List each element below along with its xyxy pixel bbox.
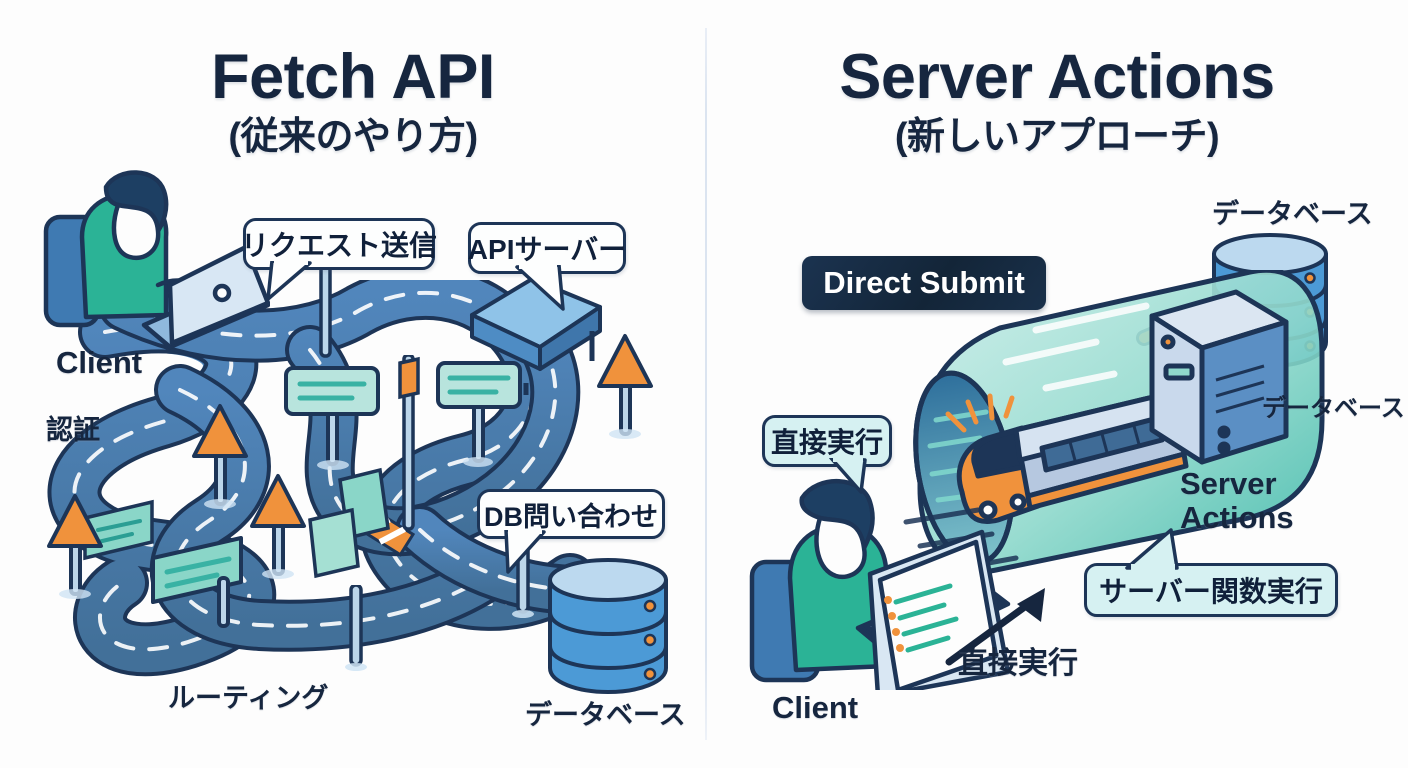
page-subtitle-right: (新しいアプローチ) bbox=[706, 115, 1408, 159]
barrier-pole-icon bbox=[398, 355, 420, 535]
request-send-bubble[interactable]: リクエスト送信 bbox=[243, 218, 435, 270]
bubble-tail-icon bbox=[1115, 526, 1185, 570]
auth-label: 認証 bbox=[46, 408, 100, 447]
database-cylinder-icon bbox=[540, 550, 680, 700]
teal-road-sign-icon bbox=[430, 355, 530, 470]
client-label-right: Client bbox=[772, 690, 858, 726]
bubble-tail-icon bbox=[264, 261, 318, 301]
server-actions-panel: Server Actions (新しいアプローチ) bbox=[706, 0, 1408, 768]
bubble-tail-icon bbox=[827, 458, 877, 496]
fetch-api-panel: Fetch API (従来のやり方) bbox=[0, 0, 706, 768]
routing-label: ルーティング bbox=[168, 676, 328, 715]
client-label: Client bbox=[56, 345, 142, 381]
server-function-bubble-label: サーバー関数実行 bbox=[1099, 570, 1323, 610]
page-subtitle-left: (従来のやり方) bbox=[0, 115, 706, 159]
database-label: データベース bbox=[525, 693, 686, 732]
direct-exec-label: 直接実行 bbox=[958, 638, 1078, 682]
person-at-laptop-icon bbox=[40, 165, 270, 355]
orange-triangle-sign-icon bbox=[45, 490, 105, 600]
bubble-tail-icon bbox=[498, 530, 552, 574]
api-server-bubble-label: APIサーバー bbox=[468, 228, 626, 268]
database-top-label: データベース bbox=[1212, 192, 1373, 231]
direct-submit-badge[interactable]: Direct Submit bbox=[802, 256, 1046, 310]
direct-exec-bubble[interactable]: 直接実行 bbox=[762, 415, 892, 467]
server-function-bubble[interactable]: サーバー関数実行 bbox=[1084, 563, 1338, 617]
teal-road-sign-icon bbox=[278, 358, 388, 473]
teal-road-sign-icon bbox=[145, 520, 265, 630]
db-query-bubble[interactable]: DB問い合わせ bbox=[477, 489, 665, 539]
diagram-canvas: Fetch API (従来のやり方) bbox=[0, 0, 1408, 768]
request-send-bubble-label: リクエスト送信 bbox=[241, 224, 437, 264]
api-server-bubble[interactable]: APIサーバー bbox=[468, 222, 626, 274]
server-actions-label-line1: Server bbox=[1180, 466, 1277, 502]
page-title-right: Server Actions bbox=[706, 44, 1408, 110]
sign-pole-icon bbox=[345, 585, 367, 675]
db-query-bubble-label: DB問い合わせ bbox=[484, 495, 658, 534]
database-mid-label: データベース bbox=[1262, 388, 1405, 423]
direct-exec-bubble-label: 直接実行 bbox=[771, 421, 883, 461]
orange-triangle-sign-icon bbox=[595, 330, 655, 440]
server-actions-label-line2: Actions bbox=[1180, 500, 1294, 536]
orange-triangle-sign-icon bbox=[190, 400, 250, 510]
bubble-tail-icon bbox=[511, 265, 571, 313]
page-title-left: Fetch API bbox=[0, 44, 706, 110]
